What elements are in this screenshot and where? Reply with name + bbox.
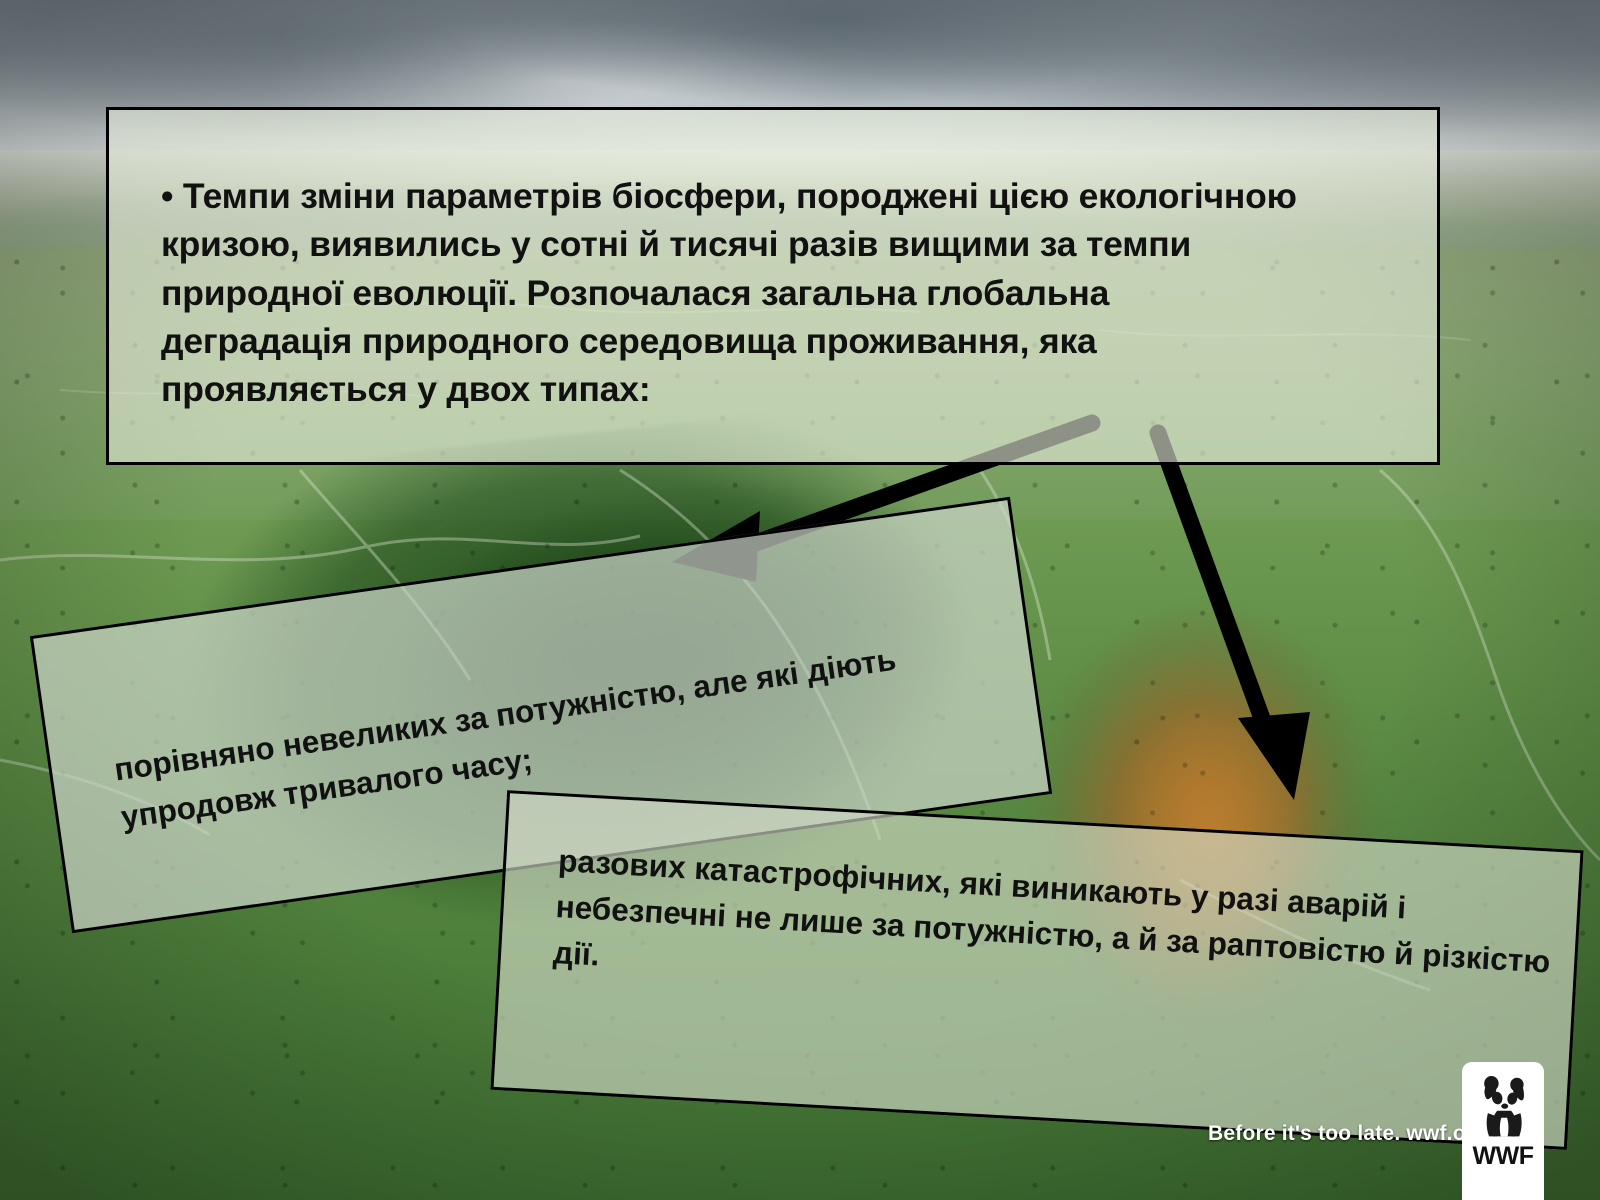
main-statement-box: • Темпи зміни параметрів біосфери, пород…	[106, 107, 1440, 465]
main-statement-text: • Темпи зміни параметрів біосфери, пород…	[161, 172, 1301, 413]
wwf-logo: WWF	[1462, 1062, 1544, 1200]
type-two-text: разових катастрофічних, які виникають у …	[552, 838, 1558, 1032]
wwf-tagline: Before it's too late. wwf.org	[1208, 1122, 1487, 1146]
wwf-wordmark: WWF	[1473, 1144, 1534, 1169]
slide-canvas: • Темпи зміни параметрів біосфери, пород…	[0, 0, 1600, 1200]
arrow-to-type-two-icon	[1158, 433, 1310, 800]
type-two-callout-box: разових катастрофічних, які виникають у …	[490, 790, 1583, 1150]
panda-icon	[1474, 1072, 1532, 1138]
